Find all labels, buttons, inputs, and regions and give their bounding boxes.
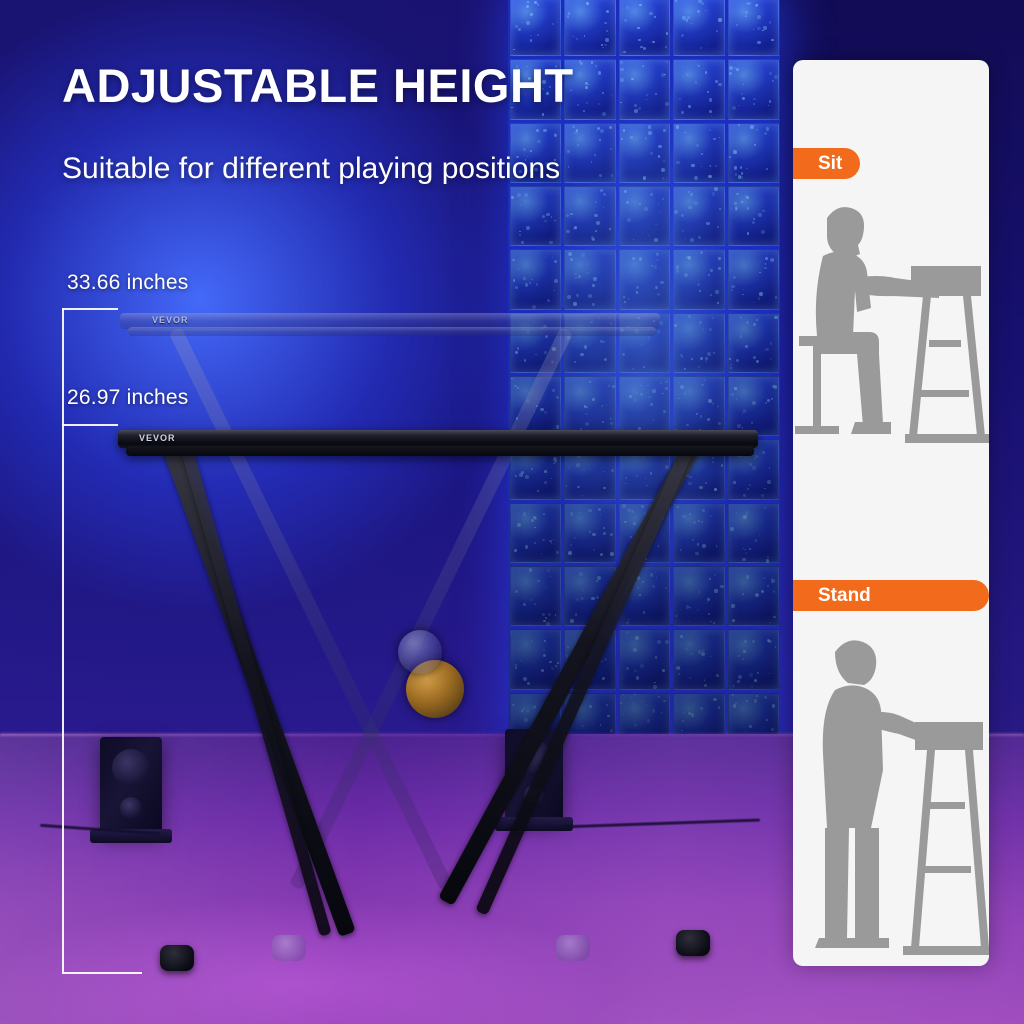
glass-speckle (754, 699, 758, 703)
glass-speckle (605, 38, 609, 42)
glass-block (673, 566, 724, 626)
glass-speckle (742, 413, 744, 415)
glass-speckle (731, 285, 735, 289)
glass-speckle (577, 486, 579, 488)
glass-speckle (552, 389, 555, 392)
glass-speckle (754, 458, 755, 459)
glass-speckle (606, 445, 609, 448)
glass-speckle (587, 263, 589, 265)
glass-speckle (755, 593, 759, 597)
glass-speckle (634, 670, 637, 673)
glass-speckle (762, 30, 763, 31)
glass-speckle (536, 283, 538, 285)
glass-speckle (655, 224, 656, 225)
glass-block (510, 376, 561, 436)
glass-speckle (660, 382, 662, 384)
glass-speckle (526, 321, 528, 323)
glass-speckle (636, 291, 639, 294)
glass-speckle (520, 204, 521, 205)
glass-speckle (515, 590, 517, 592)
glass-speckle (620, 68, 623, 71)
glass-speckle (598, 508, 601, 511)
glass-speckle (757, 672, 759, 674)
glass-speckle (631, 78, 633, 80)
glass-speckle (626, 621, 629, 624)
glass-speckle (630, 136, 632, 138)
glass-speckle (621, 138, 623, 140)
glass-speckle (714, 574, 717, 577)
glass-speckle (698, 236, 701, 239)
glass-speckle (603, 532, 606, 535)
glass-speckle (767, 585, 769, 587)
glass-speckle (646, 485, 648, 487)
glass-speckle (585, 422, 589, 426)
glass-speckle (527, 1, 529, 3)
glass-speckle (732, 106, 736, 110)
glass-speckle (523, 603, 526, 606)
glass-speckle (530, 39, 533, 42)
glass-speckle (534, 542, 536, 544)
glass-speckle (552, 257, 553, 258)
glass-block (564, 566, 615, 626)
glass-speckle (631, 510, 634, 513)
glass-speckle (600, 129, 604, 133)
glass-block (510, 566, 561, 626)
glass-speckle (551, 216, 553, 218)
glass-speckle (550, 576, 551, 577)
glass-speckle (566, 214, 569, 217)
glass-speckle (607, 449, 609, 451)
glass-speckle (622, 504, 625, 507)
glass-speckle (602, 421, 604, 423)
glass-speckle (678, 382, 679, 383)
glass-speckle (761, 590, 765, 594)
glass-speckle (658, 545, 660, 547)
glass-speckle (566, 230, 569, 233)
glass-speckle (645, 284, 646, 285)
glass-speckle (583, 110, 585, 112)
glass-speckle (586, 2, 589, 5)
glass-speckle (608, 317, 609, 318)
glass-speckle (741, 93, 743, 95)
glass-speckle (546, 622, 550, 626)
glass-speckle (534, 1, 536, 3)
glass-speckle (535, 354, 537, 356)
glass-speckle (622, 430, 625, 433)
glass-speckle (753, 302, 754, 303)
glass-speckle (520, 360, 521, 361)
glass-speckle (691, 164, 695, 168)
measurement-tick-lower (62, 424, 118, 426)
glass-speckle (678, 398, 680, 400)
glass-speckle (603, 487, 606, 490)
glass-speckle (682, 515, 686, 519)
glass-speckle (707, 418, 710, 421)
glass-speckle (586, 102, 587, 103)
glass-speckle (773, 590, 776, 593)
glass-speckle (606, 30, 608, 32)
glass-speckle (607, 609, 608, 610)
glass-speckle (540, 408, 543, 411)
glass-speckle (515, 351, 518, 354)
glass-speckle (633, 239, 635, 241)
glass-speckle (681, 111, 684, 114)
glass-speckle (521, 710, 523, 712)
glass-speckle (596, 641, 599, 644)
glass-speckle (531, 468, 534, 471)
glass-speckle (566, 655, 568, 657)
glass-speckle (731, 604, 734, 607)
glass-speckle (578, 700, 580, 702)
glass-speckle (674, 324, 677, 327)
glass-speckle (656, 519, 659, 522)
glass-speckle (755, 4, 758, 7)
glass-speckle (568, 551, 572, 555)
glass-speckle (655, 286, 658, 289)
glass-speckle (654, 682, 656, 684)
glass-speckle (570, 258, 573, 261)
glass-speckle (519, 473, 523, 477)
glass-speckle (713, 622, 715, 624)
glass-speckle (598, 652, 600, 654)
glass-speckle (699, 486, 703, 490)
glass-speckle (663, 410, 665, 412)
glass-speckle (731, 289, 733, 291)
glass-speckle (756, 360, 759, 363)
glass-speckle (766, 559, 770, 563)
glass-speckle (589, 531, 591, 533)
glass-speckle (701, 166, 702, 167)
glass-speckle (757, 27, 760, 30)
glass-speckle (737, 193, 739, 195)
glass-speckle (755, 449, 756, 450)
glass-speckle (588, 294, 592, 298)
glass-speckle (705, 357, 709, 361)
glass-speckle (582, 725, 584, 727)
glass-speckle (603, 193, 606, 196)
glass-speckle (643, 366, 645, 368)
glass-speckle (771, 398, 773, 400)
glass-speckle (743, 84, 744, 85)
glass-speckle (700, 47, 702, 49)
glass-speckle (515, 667, 517, 669)
glass-block (510, 313, 561, 373)
glass-speckle (554, 260, 557, 263)
glass-speckle (712, 461, 714, 463)
glass-speckle (517, 193, 521, 197)
glass-speckle (703, 329, 704, 330)
glass-speckle (554, 220, 556, 222)
glass-speckle (686, 424, 689, 427)
glass-speckle (731, 393, 734, 396)
glass-speckle (705, 360, 707, 362)
measurement-label-lower: 26.97 inches (67, 386, 189, 410)
glass-speckle (588, 84, 589, 85)
glass-speckle (701, 2, 705, 6)
glass-speckle (592, 398, 595, 401)
glass-speckle (514, 385, 517, 388)
glass-speckle (607, 715, 609, 717)
glass-speckle (626, 477, 628, 479)
glass-speckle (610, 729, 614, 733)
glass-speckle (523, 677, 527, 681)
glass-speckle (746, 2, 749, 5)
glass-speckle (599, 139, 601, 141)
glass-speckle (733, 685, 734, 686)
glass-speckle (588, 643, 591, 646)
glass-speckle (513, 469, 514, 470)
glass-speckle (621, 449, 623, 451)
glass-speckle (735, 537, 737, 539)
glass-speckle (626, 326, 629, 329)
glass-speckle (695, 456, 696, 457)
glass-speckle (771, 579, 772, 580)
glass-speckle (620, 321, 621, 322)
glass-speckle (593, 663, 596, 666)
glass-speckle (626, 6, 629, 9)
glass-speckle (701, 153, 702, 154)
glass-speckle (731, 447, 733, 449)
glass-speckle (598, 103, 600, 105)
glass-speckle (680, 549, 681, 550)
glass-speckle (548, 388, 549, 389)
glass-speckle (637, 317, 639, 319)
glass-speckle (623, 591, 624, 592)
glass-speckle (652, 709, 655, 712)
glass-speckle (772, 704, 775, 707)
glass-block (564, 376, 615, 436)
glass-speckle (537, 580, 540, 583)
glass-speckle (720, 504, 721, 505)
glass-speckle (754, 144, 756, 146)
standing-keyboard-and-stand (903, 722, 989, 955)
glass-speckle (631, 697, 632, 698)
glass-speckle (511, 633, 512, 634)
glass-speckle (537, 490, 539, 492)
glass-speckle (551, 667, 554, 670)
glass-speckle (678, 673, 680, 675)
glass-speckle (661, 712, 662, 713)
glass-speckle (586, 272, 588, 274)
glass-speckle (734, 67, 736, 69)
glass-speckle (512, 704, 514, 706)
glass-speckle (533, 321, 535, 323)
glass-speckle (568, 12, 570, 14)
glass-speckle (742, 427, 744, 429)
glass-speckle (767, 399, 770, 402)
glass-speckle (684, 393, 686, 395)
glass-speckle (574, 597, 575, 598)
glass-speckle (598, 317, 600, 319)
glass-speckle (601, 366, 602, 367)
glass-speckle (521, 471, 524, 474)
glass-speckle (652, 369, 653, 370)
glass-block (564, 123, 615, 183)
glass-speckle (556, 362, 557, 363)
glass-speckle (693, 704, 694, 705)
glass-speckle (745, 345, 748, 348)
glass-speckle (753, 356, 756, 359)
glass-speckle (600, 724, 601, 725)
glass-speckle (570, 704, 573, 707)
glass-speckle (743, 650, 746, 653)
glass-speckle (595, 230, 597, 232)
glass-speckle (708, 274, 710, 276)
glass-speckle (747, 207, 749, 209)
glass-speckle (685, 19, 687, 21)
glass-speckle (517, 523, 521, 527)
glass-speckle (746, 168, 747, 169)
glass-speckle (683, 712, 684, 713)
glass-speckle (769, 467, 771, 469)
glass-speckle (699, 429, 702, 432)
glass-speckle (718, 422, 721, 425)
glass-speckle (698, 650, 701, 653)
glass-speckle (553, 578, 554, 579)
glass-speckle (534, 603, 536, 605)
glass-speckle (511, 378, 513, 380)
glass-speckle (736, 68, 739, 71)
glass-block (619, 439, 670, 499)
page-title: ADJUSTABLE HEIGHT (62, 58, 574, 113)
glass-speckle (649, 513, 651, 515)
glass-speckle (654, 265, 657, 268)
glass-speckle (653, 320, 655, 322)
glass-speckle (682, 230, 684, 232)
glass-speckle (745, 195, 746, 196)
glass-speckle (645, 478, 646, 479)
glass-speckle (531, 640, 533, 642)
glass-speckle (584, 345, 587, 348)
glass-speckle (718, 267, 721, 270)
glass-speckle (751, 686, 753, 688)
glass-speckle (700, 461, 701, 462)
glass-speckle (762, 210, 764, 212)
glass-block (619, 123, 670, 183)
glass-speckle (740, 166, 743, 169)
glass-block (564, 439, 615, 499)
glass-speckle (707, 352, 711, 356)
glass-speckle (701, 649, 705, 653)
glass-speckle (593, 678, 594, 679)
glass-speckle (686, 605, 690, 609)
glass-speckle (523, 148, 526, 151)
glass-speckle (735, 173, 738, 176)
glass-speckle (518, 268, 519, 269)
glass-speckle (602, 677, 605, 680)
glass-speckle (525, 283, 528, 286)
glass-speckle (555, 614, 557, 616)
glass-block (673, 186, 724, 246)
glass-block (728, 439, 779, 499)
glass-speckle (757, 41, 761, 45)
glass-speckle (710, 165, 712, 167)
glass-block (564, 313, 615, 373)
glass-speckle (638, 587, 639, 588)
glass-speckle (697, 10, 700, 13)
glass-speckle (686, 256, 689, 259)
glass-speckle (774, 316, 777, 319)
glass-speckle (689, 513, 691, 515)
glass-speckle (710, 294, 712, 296)
glass-speckle (515, 25, 518, 28)
glass-speckle (742, 294, 743, 295)
glass-speckle (736, 24, 738, 26)
measurement-label-upper: 33.66 inches (67, 271, 189, 295)
measurement-line-upper (62, 308, 64, 974)
glass-speckle (677, 448, 679, 450)
glass-speckle (600, 614, 602, 616)
glass-block (564, 629, 615, 689)
glass-speckle (604, 44, 607, 47)
glass-block (728, 313, 779, 373)
glass-speckle (746, 700, 748, 702)
speaker-tweeter (524, 785, 544, 805)
speaker-driver (516, 740, 552, 776)
glass-speckle (648, 347, 649, 348)
glass-block-window (508, 0, 780, 754)
glass-speckle (655, 656, 657, 658)
glass-speckle (751, 422, 753, 424)
glass-speckle (519, 234, 521, 236)
glass-speckle (713, 698, 716, 701)
glass-speckle (717, 302, 718, 303)
glass-speckle (698, 591, 700, 593)
glass-speckle (736, 513, 738, 515)
glass-block (673, 59, 724, 119)
glass-speckle (657, 293, 660, 296)
glass-speckle (764, 267, 767, 270)
glass-speckle (624, 190, 627, 193)
glass-speckle (546, 588, 548, 590)
glass-speckle (602, 405, 604, 407)
glass-speckle (544, 481, 547, 484)
glass-speckle (744, 640, 747, 643)
glass-speckle (709, 110, 712, 113)
glass-speckle (665, 381, 668, 384)
glass-speckle (604, 22, 606, 24)
glass-speckle (716, 674, 719, 677)
glass-speckle (693, 570, 694, 571)
glass-speckle (738, 655, 740, 657)
glass-speckle (532, 50, 533, 51)
glass-speckle (750, 125, 754, 129)
glass-speckle (749, 725, 752, 728)
glass-speckle (736, 193, 737, 194)
glass-speckle (542, 539, 544, 541)
glass-speckle (555, 665, 557, 667)
glass-speckle (690, 162, 691, 163)
glass-block (673, 0, 724, 56)
glass-speckle (753, 29, 755, 31)
glass-speckle (629, 585, 631, 587)
glass-speckle (682, 66, 683, 67)
glass-speckle (567, 2, 569, 4)
glass-speckle (708, 175, 711, 178)
glass-block (619, 566, 670, 626)
glass-speckle (766, 127, 770, 131)
glass-speckle (544, 411, 547, 414)
glass-speckle (663, 700, 665, 702)
glass-speckle (664, 494, 666, 496)
glass-speckle (611, 469, 614, 472)
glass-speckle (548, 450, 549, 451)
glass-speckle (734, 166, 737, 169)
glass-speckle (515, 286, 518, 289)
glass-speckle (745, 11, 749, 15)
glass-speckle (557, 22, 559, 24)
glass-speckle (702, 544, 706, 548)
